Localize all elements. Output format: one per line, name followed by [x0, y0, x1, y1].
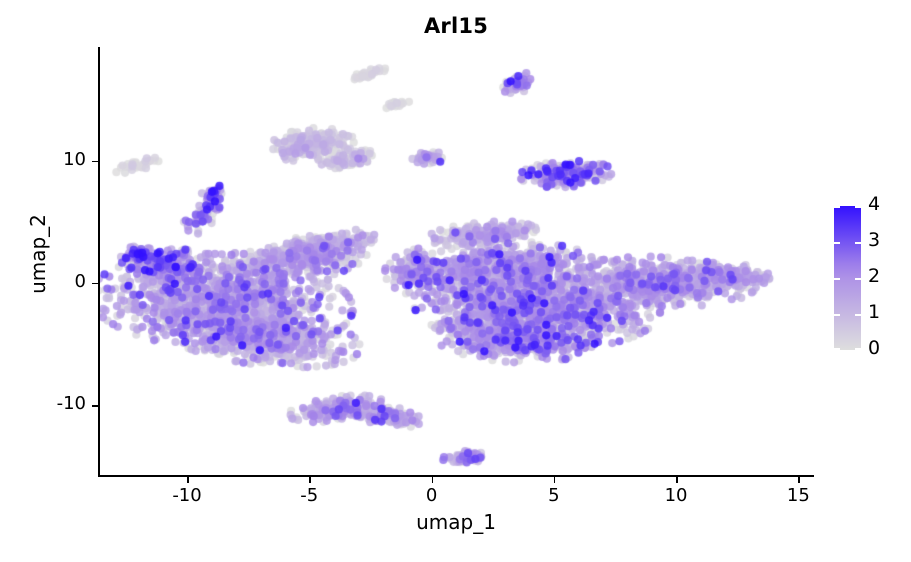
x-tick-label: -10 — [157, 485, 217, 506]
colorbar-tick-label: 3 — [868, 229, 898, 251]
axis-spine-bottom — [98, 475, 814, 477]
x-tick-label: 0 — [402, 485, 462, 506]
colorbar-legend: 01234 — [834, 206, 906, 356]
x-tick-mark — [432, 477, 434, 483]
axis-spine-left — [98, 47, 100, 477]
colorbar-tick-mark — [855, 206, 861, 208]
x-tick-mark — [187, 477, 189, 483]
colorbar-tick-mark — [855, 314, 861, 316]
colorbar-tick-mark — [834, 278, 840, 280]
colorbar-tick-mark — [855, 242, 861, 244]
colorbar-tick-label: 2 — [868, 265, 898, 287]
colorbar-tick-mark — [834, 206, 840, 208]
colorbar-tick-mark — [834, 314, 840, 316]
page-title: Arl15 — [99, 14, 813, 38]
x-tick-mark — [554, 477, 556, 483]
x-tick-label: 15 — [768, 485, 828, 506]
x-tick-label: -5 — [279, 485, 339, 506]
x-tick-label: 5 — [524, 485, 584, 506]
colorbar-tick-label: 4 — [868, 193, 898, 215]
y-tick-mark — [92, 283, 98, 285]
colorbar-tick-label: 1 — [868, 301, 898, 323]
x-tick-mark — [676, 477, 678, 483]
y-tick-mark — [92, 161, 98, 163]
x-tick-mark — [309, 477, 311, 483]
x-tick-label: 10 — [646, 485, 706, 506]
plot-axes-area — [99, 48, 813, 476]
colorbar-tick-mark — [834, 242, 840, 244]
x-axis-label: umap_1 — [99, 510, 813, 534]
colorbar-tick-label: 0 — [868, 337, 898, 359]
colorbar-tick-mark — [855, 348, 861, 350]
x-tick-mark — [798, 477, 800, 483]
colorbar-tick-mark — [834, 348, 840, 350]
colorbar-tick-mark — [855, 278, 861, 280]
scatter-plot — [99, 48, 813, 476]
y-axis-label: umap_2 — [26, 154, 50, 354]
figure-canvas: Arl15 -10-5051015 -10010 umap_1 umap_2 0… — [0, 0, 911, 562]
y-tick-label: -10 — [22, 393, 86, 414]
y-tick-mark — [92, 405, 98, 407]
